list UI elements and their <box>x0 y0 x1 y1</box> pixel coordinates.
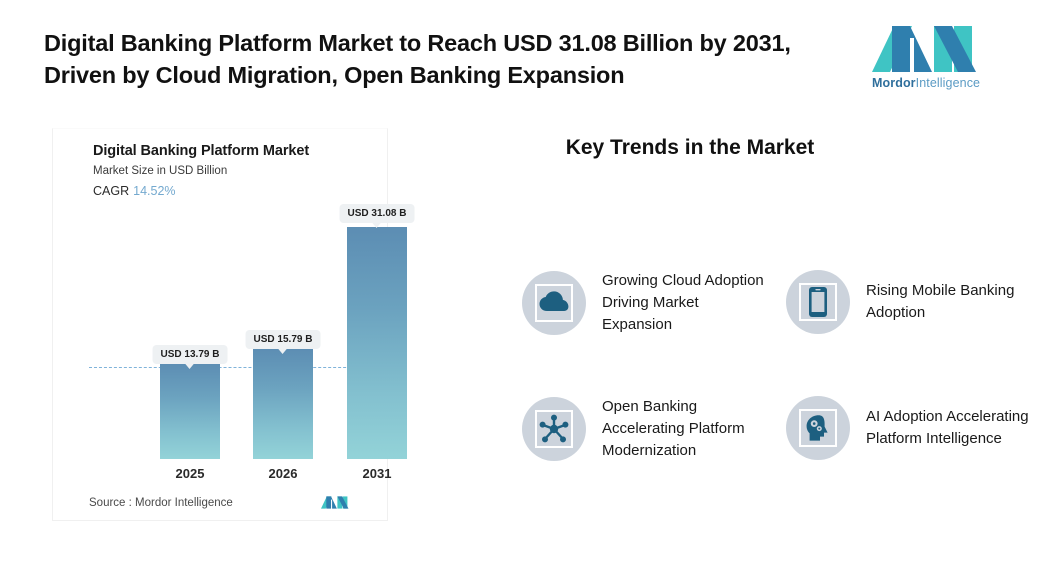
brand-word-intelligence: Intelligence <box>916 76 980 90</box>
bar-value-label-2026: USD 15.79 B <box>246 330 321 349</box>
ai-head-gears-icon <box>786 396 850 460</box>
header: Digital Banking Platform Market to Reach… <box>0 0 1060 118</box>
trend-label: Open Banking Accelerating Platform Moder… <box>602 396 772 462</box>
cloud-glyph-icon <box>539 291 569 315</box>
trend-item-ai-adoption: AI Adoption Accelerating Platform Intell… <box>786 396 1036 460</box>
trends-section-title: Key Trends in the Market <box>534 136 846 160</box>
ai-head-gears-glyph-icon <box>803 413 833 443</box>
mordor-intelligence-mark-icon <box>872 26 978 72</box>
bar-2026 <box>253 348 313 459</box>
bar-value-label-2031: USD 31.08 B <box>340 204 415 223</box>
brand-wordmark: MordorIntelligence <box>872 76 984 90</box>
x-axis-tick-2025: 2025 <box>176 466 205 481</box>
mobile-phone-icon <box>786 270 850 334</box>
chart-panel: Digital Banking Platform Market Market S… <box>52 128 388 521</box>
cloud-icon <box>522 271 586 335</box>
bar-chart-plot: USD 13.79 B USD 15.79 B USD 31.08 B 2025… <box>53 129 389 522</box>
chart-source-label: Source : Mordor Intelligence <box>89 497 233 509</box>
infographic-page: Digital Banking Platform Market to Reach… <box>0 0 1060 568</box>
chart-source-row: Source : Mordor Intelligence <box>89 495 359 515</box>
trend-item-cloud-adoption: Growing Cloud Adoption Driving Market Ex… <box>522 270 772 336</box>
x-axis-tick-2031: 2031 <box>363 466 392 481</box>
trend-item-open-banking: Open Banking Accelerating Platform Moder… <box>522 396 772 462</box>
trend-item-mobile-banking: Rising Mobile Banking Adoption <box>786 270 1036 334</box>
bar-2031 <box>347 227 407 459</box>
mobile-phone-glyph-icon <box>807 286 829 318</box>
bar-2025 <box>160 363 220 459</box>
brand-logo: MordorIntelligence <box>872 26 984 98</box>
network-hub-icon <box>522 397 586 461</box>
trend-label: AI Adoption Accelerating Platform Intell… <box>866 406 1036 450</box>
page-title: Digital Banking Platform Market to Reach… <box>44 27 859 91</box>
source-mordor-mark-icon <box>321 495 349 510</box>
reference-dashed-line <box>89 367 376 368</box>
brand-word-mordor: Mordor <box>872 76 916 90</box>
trend-label: Rising Mobile Banking Adoption <box>866 280 1036 324</box>
trend-label: Growing Cloud Adoption Driving Market Ex… <box>602 270 772 336</box>
bar-value-label-2025: USD 13.79 B <box>153 345 228 364</box>
x-axis-tick-2026: 2026 <box>269 466 298 481</box>
network-hub-glyph-icon <box>539 414 569 444</box>
